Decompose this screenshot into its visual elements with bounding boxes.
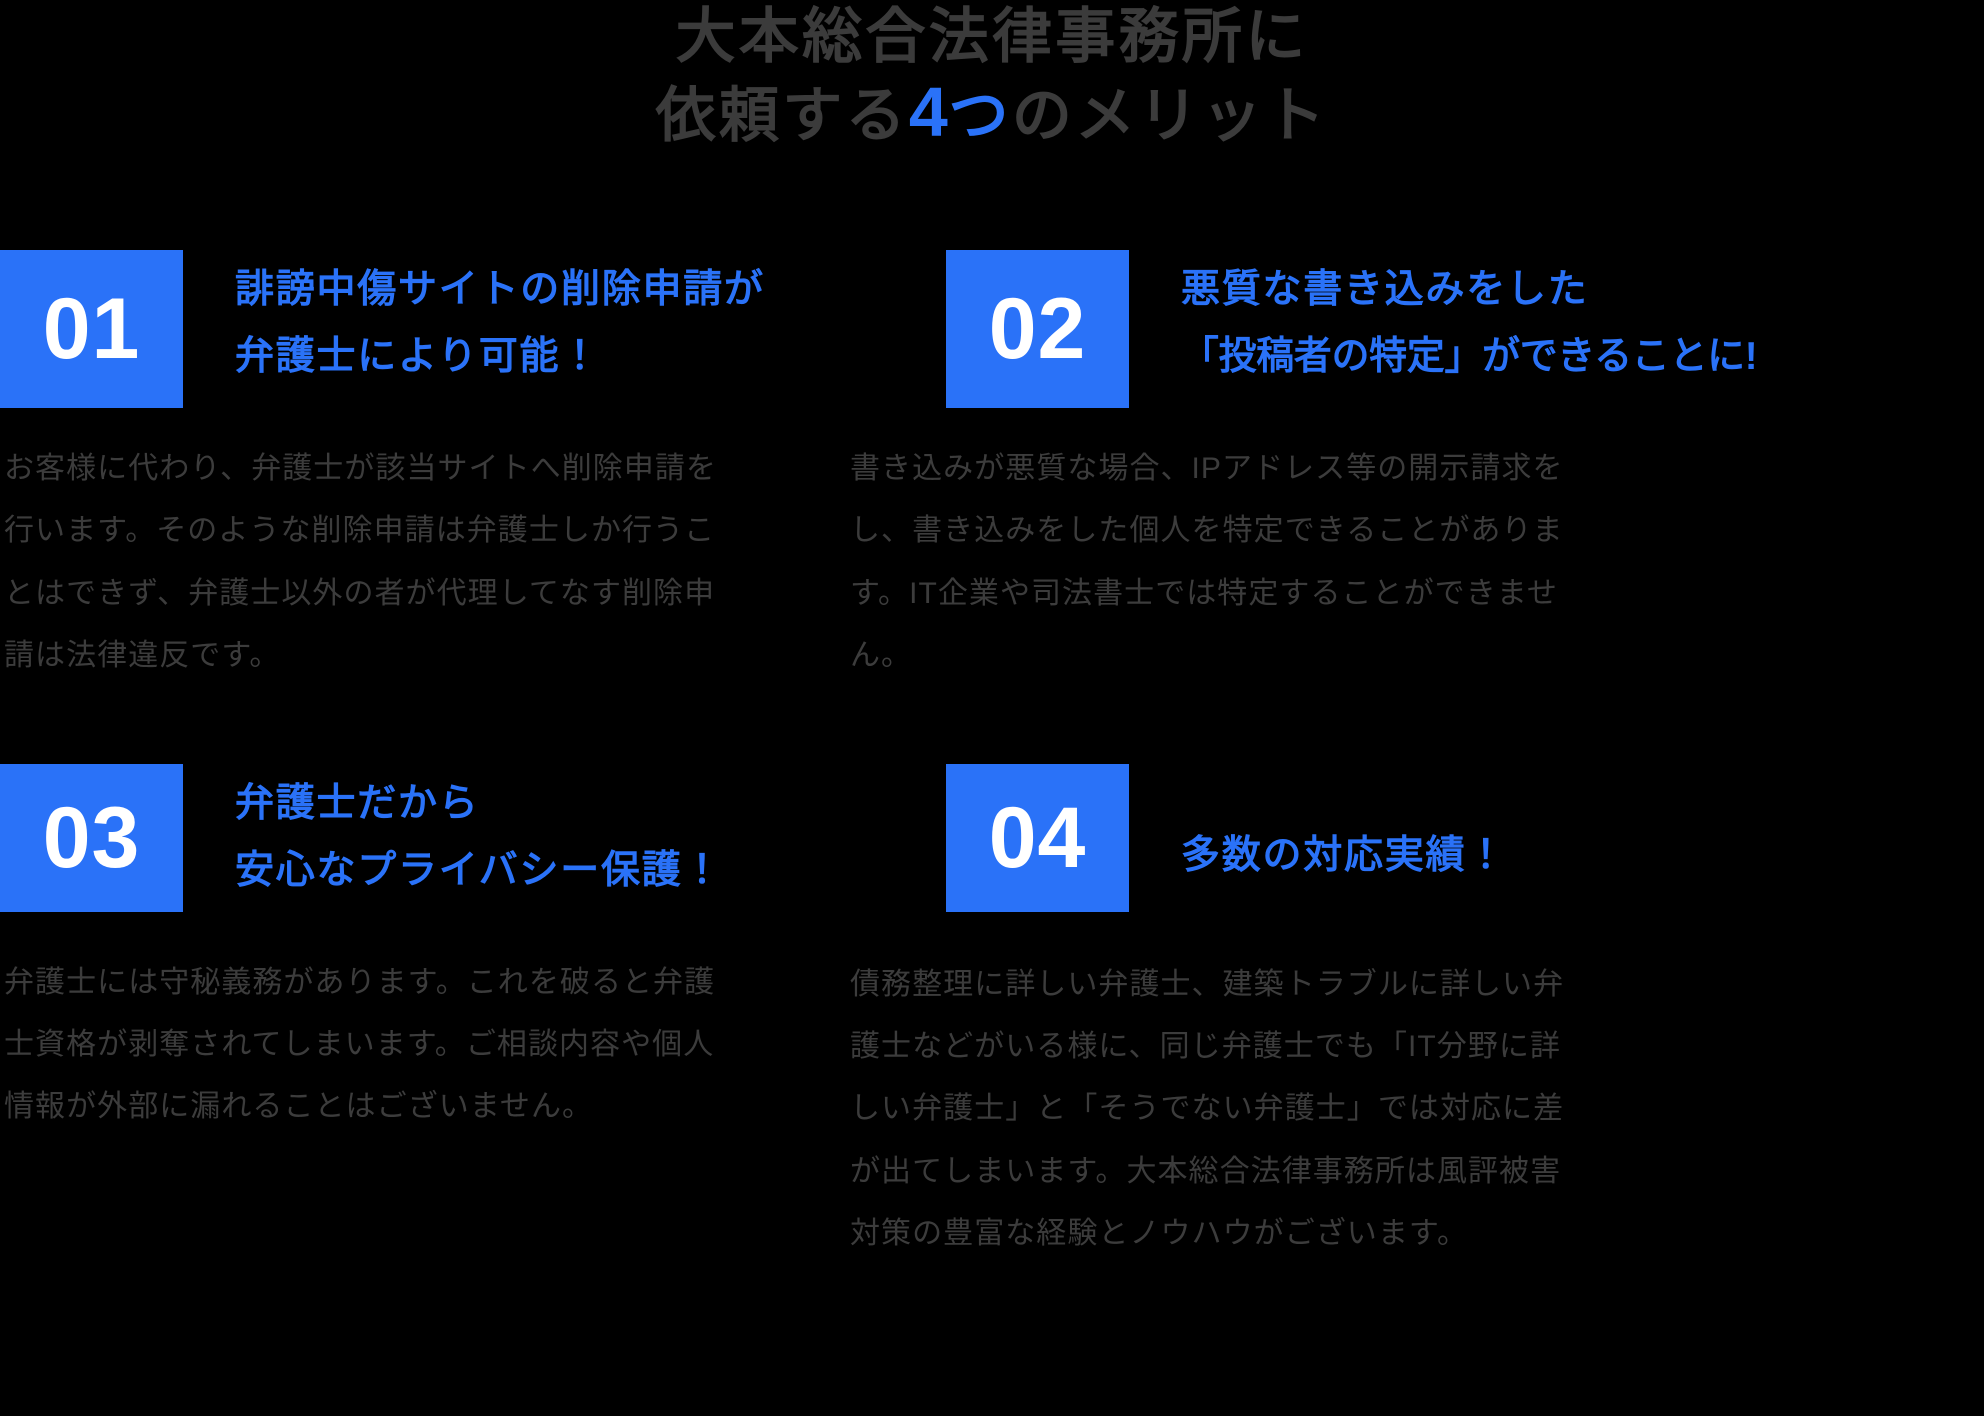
merit-body-02: 書き込みが悪質な場合、IPアドレス等の開示請求をし、書き込みをした個人を特定でき… xyxy=(845,408,1587,688)
merit-body-03: 弁護士には守秘義務があります。これを破ると弁護士資格が剥奪されてしまいます。ご相… xyxy=(0,912,742,1139)
page-title-suffix: のメリット xyxy=(1012,82,1329,149)
merit-title-02-line-2: 「投稿者の特定」ができることに! xyxy=(1181,323,1757,390)
merit-title-03-line-1: 弁護士だから xyxy=(235,770,723,837)
merit-title-03: 弁護士だから 安心なプライバシー保護！ xyxy=(183,764,723,904)
merit-card-03: 03 弁護士だから 安心なプライバシー保護！ 弁護士には守秘義務があります。これ… xyxy=(0,688,845,1266)
page-title-counter: つ xyxy=(949,82,1012,149)
merit-badge-02: 02 xyxy=(946,250,1129,408)
merit-title-02: 悪質な書き込みをした 「投稿者の特定」ができることに! xyxy=(1129,250,1775,390)
merit-title-01-line-1: 誹謗中傷サイトの削除申請が xyxy=(235,256,765,323)
merit-card-01: 01 誹謗中傷サイトの削除申請が 弁護士により可能！ お客様に代わり、弁護士が該… xyxy=(0,250,845,688)
merit-title-04: 多数の対応実績！ xyxy=(1129,764,1507,889)
merit-title-03-line-2: 安心なプライバシー保護！ xyxy=(235,837,723,904)
merit-body-01: お客様に代わり、弁護士が該当サイトへ削除申請を行います。そのような削除申請は弁護… xyxy=(0,408,742,688)
merit-title-01: 誹謗中傷サイトの削除申請が 弁護士により可能！ xyxy=(183,250,765,390)
merit-body-04: 債務整理に詳しい弁護士、建築トラブルに詳しい弁護士などがいる様に、同じ弁護士でも… xyxy=(845,912,1587,1266)
merits-grid: 01 誹謗中傷サイトの削除申請が 弁護士により可能！ お客様に代わり、弁護士が該… xyxy=(0,250,1984,1266)
merit-badge-03: 03 xyxy=(0,764,183,912)
merit-header-01: 01 誹謗中傷サイトの削除申請が 弁護士により可能！ xyxy=(0,250,845,408)
page-title-line-2: 依頼する4つのメリット xyxy=(0,72,1984,153)
merit-title-01-line-2: 弁護士により可能！ xyxy=(235,323,765,390)
merit-title-04-line-1: 多数の対応実績！ xyxy=(1181,770,1507,889)
page-title-number: 4 xyxy=(909,73,949,151)
merit-title-02-line-1: 悪質な書き込みをした xyxy=(1181,256,1775,323)
page-title: 大本総合法律事務所に 依頼する4つのメリット xyxy=(0,0,1984,153)
merit-card-02: 02 悪質な書き込みをした 「投稿者の特定」ができることに! 書き込みが悪質な場… xyxy=(845,250,1984,688)
merit-header-03: 03 弁護士だから 安心なプライバシー保護！ xyxy=(0,688,845,912)
page-title-line-1: 大本総合法律事務所に xyxy=(0,2,1984,72)
page-title-prefix: 依頼する xyxy=(656,82,909,149)
merit-header-02: 02 悪質な書き込みをした 「投稿者の特定」ができることに! xyxy=(845,250,1984,408)
merit-badge-01: 01 xyxy=(0,250,183,408)
merit-header-04: 04 多数の対応実績！ xyxy=(845,688,1984,912)
merit-badge-04: 04 xyxy=(946,764,1129,912)
merit-card-04: 04 多数の対応実績！ 債務整理に詳しい弁護士、建築トラブルに詳しい弁護士などが… xyxy=(845,688,1984,1266)
